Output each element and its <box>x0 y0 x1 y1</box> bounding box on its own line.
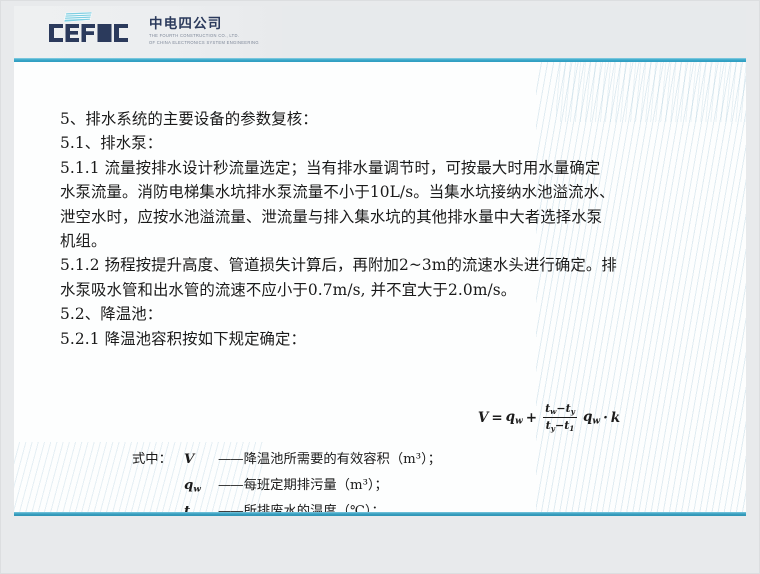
legend-description: 每班定期排污量（m³）； <box>244 475 388 498</box>
legend-row: 式中： V —— 降温池所需要的有效容积（m³）； <box>132 449 441 475</box>
formula-denominator: ty−t1 <box>543 417 578 433</box>
formula-term2: qw <box>583 409 600 426</box>
num-minus: − <box>556 402 565 415</box>
volume-formula: V = qw + tw−ty ty−t1 qw · k <box>434 402 664 433</box>
formula-dot: · <box>603 410 608 426</box>
formula-term1-base: q <box>506 409 515 425</box>
legend-prefix: 式中： <box>132 449 180 472</box>
legend-symbol-base: q <box>184 478 193 493</box>
formula-image: V = qw + tw−ty ty−t1 qw · k <box>434 402 664 446</box>
company-name-en-line1: THE FOURTH CONSTRUCTION CO., LTD. <box>149 33 259 38</box>
legend-symbol: V <box>180 449 218 475</box>
body-line-2: 5.1.1 流量按排水设计秒流量选定；当有排水量调节时，可按最大时用水量确定 <box>60 156 724 180</box>
cefoc-wordmark-icon <box>48 12 140 46</box>
body-line-3: 水泵流量。消防电梯集水坑排水泵流量不小于10L/s。当集水坑接纳水池溢流水、 <box>60 180 724 204</box>
slide-footer <box>14 516 746 568</box>
company-logo: 中电四公司 THE FOURTH CONSTRUCTION CO., LTD. … <box>48 12 259 46</box>
company-name-block: 中电四公司 THE FOURTH CONSTRUCTION CO., LTD. … <box>149 17 259 45</box>
body-line-4: 泄空水时，应按水池溢流量、泄流量与排入集水坑的其他排水量中大者选择水泵 <box>60 205 724 229</box>
body-line-1: 5.1、排水泵： <box>60 131 724 155</box>
formula-equals: = <box>491 410 502 426</box>
body-line-0: 5、排水系统的主要设备的参数复核： <box>60 107 724 131</box>
legend-row: qw —— 每班定期排污量（m³）； <box>132 475 441 501</box>
formula-legend: 式中： V —— 降温池所需要的有效容积（m³）； qw —— 每班定期排污量（… <box>132 449 441 512</box>
company-name-en-line2: OF CHINA ELECTRONICS SYSTEM ENGINEERING <box>149 40 259 45</box>
legend-description: 所排废水的温度（℃）； <box>244 501 385 512</box>
formula-lhs: V <box>478 410 488 426</box>
body-line-7: 水泵吸水管和出水管的流速不应小于0.7m/s, 并不宜大于2.0m/s。 <box>60 278 724 302</box>
formula-fraction: tw−ty ty−t1 <box>542 402 578 433</box>
body-text-block: 5、排水系统的主要设备的参数复核： 5.1、排水泵： 5.1.1 流量按排水设计… <box>60 107 724 351</box>
formula-term2-base: q <box>583 409 592 425</box>
legend-description: 降温池所需要的有效容积（m³）； <box>244 449 441 472</box>
formula-term1: qw <box>506 409 523 426</box>
legend-symbol-base: V <box>184 452 194 467</box>
legend-dash: —— <box>218 475 244 498</box>
body-line-6: 5.1.2 扬程按提升高度、管道损失计算后，再附加2~3m的流速水头进行确定。排 <box>60 253 724 277</box>
den-minus: − <box>555 419 564 432</box>
body-line-8: 5.2、降温池： <box>60 302 724 326</box>
formula-term3: k <box>611 410 620 426</box>
legend-dash: —— <box>218 501 244 512</box>
formula-plus: + <box>526 410 537 426</box>
slide-content: 5、排水系统的主要设备的参数复核： 5.1、排水泵： 5.1.1 流量按排水设计… <box>14 62 746 512</box>
body-line-9: 5.2.1 降温池容积按如下规定确定： <box>60 327 724 351</box>
legend-dash: —— <box>218 449 244 472</box>
legend-row: tw —— 所排废水的温度（℃）； <box>132 501 441 512</box>
legend-symbol: qw <box>180 475 218 501</box>
formula-term2-sub: w <box>592 416 600 426</box>
company-name-cn: 中电四公司 <box>149 17 259 32</box>
body-line-5: 机组。 <box>60 229 724 253</box>
den-b-sub: 1 <box>569 424 574 433</box>
formula-numerator: tw−ty <box>542 402 578 417</box>
formula-term1-sub: w <box>515 416 523 426</box>
legend-symbol: tw <box>180 501 218 512</box>
slide-canvas: 中电四公司 THE FOURTH CONSTRUCTION CO., LTD. … <box>0 0 760 574</box>
legend-symbol-sub: w <box>193 485 201 495</box>
num-b-sub: y <box>571 407 575 416</box>
